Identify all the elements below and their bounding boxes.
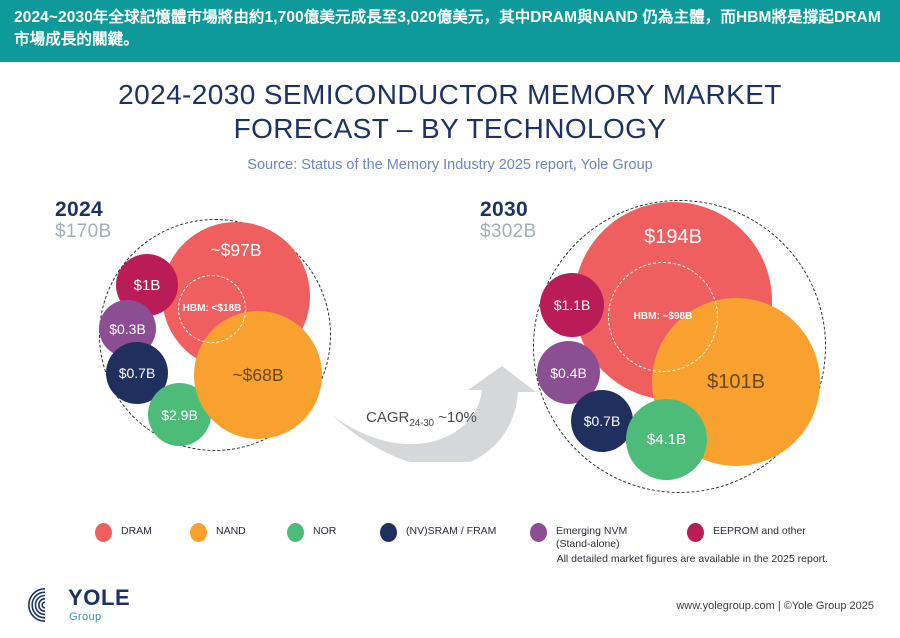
cagr-subscript: 24-30 — [409, 418, 434, 429]
bubble-2024-nand[interactable]: ~$68B — [194, 311, 322, 439]
bubble-2024-sram-fram-label: $0.7B — [119, 365, 156, 381]
legend-item-emerging-nvm[interactable]: Emerging NVM (Stand-alone) — [530, 522, 627, 551]
title-block: 2024-2030 SEMICONDUCTOR MEMORY MARKET FO… — [0, 78, 900, 173]
footer-copyright: www.yolegroup.com | ©Yole Group 2025 — [676, 600, 874, 612]
page-title: 2024-2030 SEMICONDUCTOR MEMORY MARKET FO… — [70, 78, 830, 146]
legend-dot-eeprom — [687, 523, 704, 542]
cagr-label: CAGR24-30 ~10% — [366, 409, 477, 429]
bubble-2030-sram-fram[interactable]: $0.7B — [571, 390, 633, 452]
source-line: Source: Status of the Memory Industry 20… — [0, 157, 900, 173]
bubble-2024-nor-label: $2.9B — [161, 407, 198, 423]
legend-item-dram[interactable]: DRAM — [95, 522, 152, 542]
yole-swirl-icon — [26, 586, 64, 624]
bubble-2024-nand-label: ~$68B — [232, 365, 283, 386]
legend-note: All detailed market figures are availabl… — [557, 553, 828, 565]
bubble-2030-emerging-nvm-label: $0.4B — [550, 365, 587, 381]
bubble-2024-eeprom-label: $1B — [134, 277, 161, 294]
legend-label-eeprom: EEPROM and other — [713, 522, 806, 538]
panel-2024-total: $170B — [55, 221, 111, 243]
legend-dot-dram — [95, 523, 112, 542]
legend-item-nand[interactable]: NAND — [190, 522, 246, 542]
cagr-prefix: CAGR — [366, 409, 409, 426]
cagr-value: ~10% — [438, 409, 477, 426]
legend-item-sram-fram[interactable]: (NV)SRAM / FRAM — [380, 522, 496, 542]
bubble-2030-eeprom-label: $1.1B — [554, 297, 591, 313]
legend-label-nand: NAND — [216, 522, 246, 538]
panel-2030-total: $302B — [480, 221, 536, 243]
legend-item-nor[interactable]: NOR — [287, 522, 336, 542]
legend-item-eeprom[interactable]: EEPROM and other — [687, 522, 806, 542]
legend-dot-nand — [190, 523, 207, 542]
bubble-2024-dram-label: ~$97B — [210, 240, 261, 261]
legend-dot-sram-fram — [380, 523, 397, 542]
legend-label-emerging-nvm: Emerging NVM (Stand-alone) — [556, 522, 627, 551]
legend-label-nor: NOR — [313, 522, 336, 538]
headline-banner: 2024~2030年全球記憶體市場將由約1,700億美元成長至3,020億美元，… — [0, 0, 900, 62]
logo-text: YOLE Group — [68, 587, 130, 623]
panel-2024-year: 2024 — [55, 198, 103, 222]
panel-2030-year: 2030 — [480, 198, 528, 222]
logo-subtitle: Group — [69, 611, 130, 623]
bubble-2030-eeprom[interactable]: $1.1B — [540, 273, 604, 337]
logo-wordmark: YOLE — [68, 587, 130, 609]
legend-dot-nor — [287, 523, 304, 542]
bubble-2030-sram-fram-label: $0.7B — [584, 413, 621, 429]
bubble-2030-nor[interactable]: $4.1B — [626, 399, 707, 480]
bubble-2030-nand-label: $101B — [707, 371, 765, 394]
headline-text: 2024~2030年全球記憶體市場將由約1,700億美元成長至3,020億美元，… — [14, 7, 886, 52]
bubble-2030-dram-label: $194B — [644, 226, 702, 249]
legend-label-sram-fram: (NV)SRAM / FRAM — [406, 522, 496, 538]
legend-label-dram: DRAM — [121, 522, 152, 538]
legend-dot-emerging-nvm — [530, 523, 547, 542]
bubble-2030-nor-label: $4.1B — [647, 431, 686, 448]
footer-logo[interactable]: YOLE Group — [26, 586, 130, 624]
bubble-2024-emerging-nvm-label: $0.3B — [109, 321, 146, 337]
